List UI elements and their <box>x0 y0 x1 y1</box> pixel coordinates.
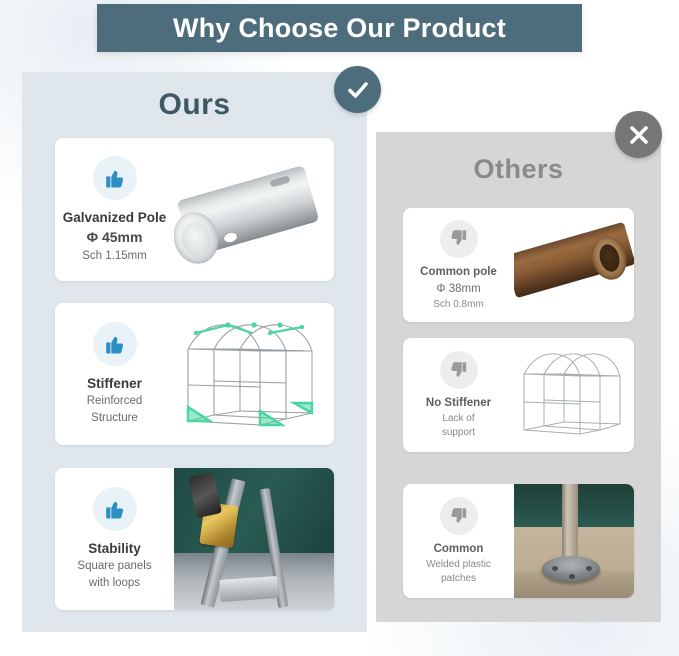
ours-card-stiffener-sub: Reinforced <box>87 394 143 409</box>
ours-card-stability-text: Stability Square panels with loops <box>55 468 174 610</box>
ours-card-pole: Galvanized Pole Φ 45mm Sch 1.15mm <box>55 138 334 281</box>
ours-card-pole-text: Galvanized Pole Φ 45mm Sch 1.15mm <box>55 138 174 281</box>
others-card-base-text: Common Welded plastic patches <box>403 484 514 598</box>
check-badge <box>334 66 381 113</box>
ours-card-pole-sub2: Sch 1.15mm <box>82 249 147 264</box>
stability-bracket-photo <box>174 468 334 610</box>
ours-card-stiffener: Stiffener Reinforced Structure <box>55 303 334 445</box>
ours-card-stiffener-text: Stiffener Reinforced Structure <box>55 303 174 445</box>
others-card-base-sub2: patches <box>441 572 476 585</box>
reinforced-frame-diagram <box>174 303 334 445</box>
others-card-pole-sub2: Sch 0.8mm <box>433 298 484 311</box>
cross-icon <box>627 123 651 147</box>
ours-card-stability-sub2: with loops <box>89 576 140 591</box>
plain-frame-diagram <box>514 338 634 452</box>
page-title: Why Choose Our Product <box>173 13 506 44</box>
others-card-base: Common Welded plastic patches <box>403 484 634 598</box>
ours-heading: Ours <box>22 88 367 122</box>
thumbs-down-icon <box>440 351 478 389</box>
plastic-patch-photo <box>514 484 634 598</box>
others-heading: Others <box>376 154 661 185</box>
thumbs-down-icon <box>440 497 478 535</box>
cross-badge <box>615 111 662 158</box>
ours-card-stability-title: Stability <box>88 540 141 557</box>
ours-card-stability-sub: Square panels <box>77 559 151 574</box>
check-icon <box>345 77 371 103</box>
rusty-pipe-photo <box>514 208 634 322</box>
ours-card-stability: Stability Square panels with loops <box>55 468 334 610</box>
others-card-pole-text: Common pole Φ 38mm Sch 0.8mm <box>403 208 514 322</box>
others-card-pole-sub: Φ 38mm <box>436 282 480 297</box>
title-banner: Why Choose Our Product <box>97 4 582 52</box>
thumbs-up-icon <box>93 156 137 200</box>
others-card-stiffener-title: No Stiffener <box>426 396 491 411</box>
others-card-base-title: Common <box>434 542 484 557</box>
ours-card-stiffener-title: Stiffener <box>87 375 142 392</box>
ours-card-pole-title: Galvanized Pole <box>63 209 167 226</box>
galvanized-pole-photo <box>174 138 334 281</box>
others-card-pole: Common pole Φ 38mm Sch 0.8mm <box>403 208 634 322</box>
thumbs-up-icon <box>93 322 137 366</box>
ours-card-stiffener-sub2: Structure <box>91 411 138 426</box>
thumbs-up-icon <box>93 487 137 531</box>
others-card-stiffener-sub2: support <box>442 426 475 439</box>
comparison-infographic: Why Choose Our Product Ours Others <box>0 0 679 656</box>
others-card-stiffener-text: No Stiffener Lack of support <box>403 338 514 452</box>
thumbs-down-icon <box>440 220 478 258</box>
others-card-pole-title: Common pole <box>420 265 497 280</box>
ours-card-pole-sub: Φ 45mm <box>87 228 143 247</box>
others-card-stiffener: No Stiffener Lack of support <box>403 338 634 452</box>
others-card-stiffener-sub: Lack of <box>442 412 474 425</box>
others-card-base-sub: Welded plastic <box>426 558 491 571</box>
